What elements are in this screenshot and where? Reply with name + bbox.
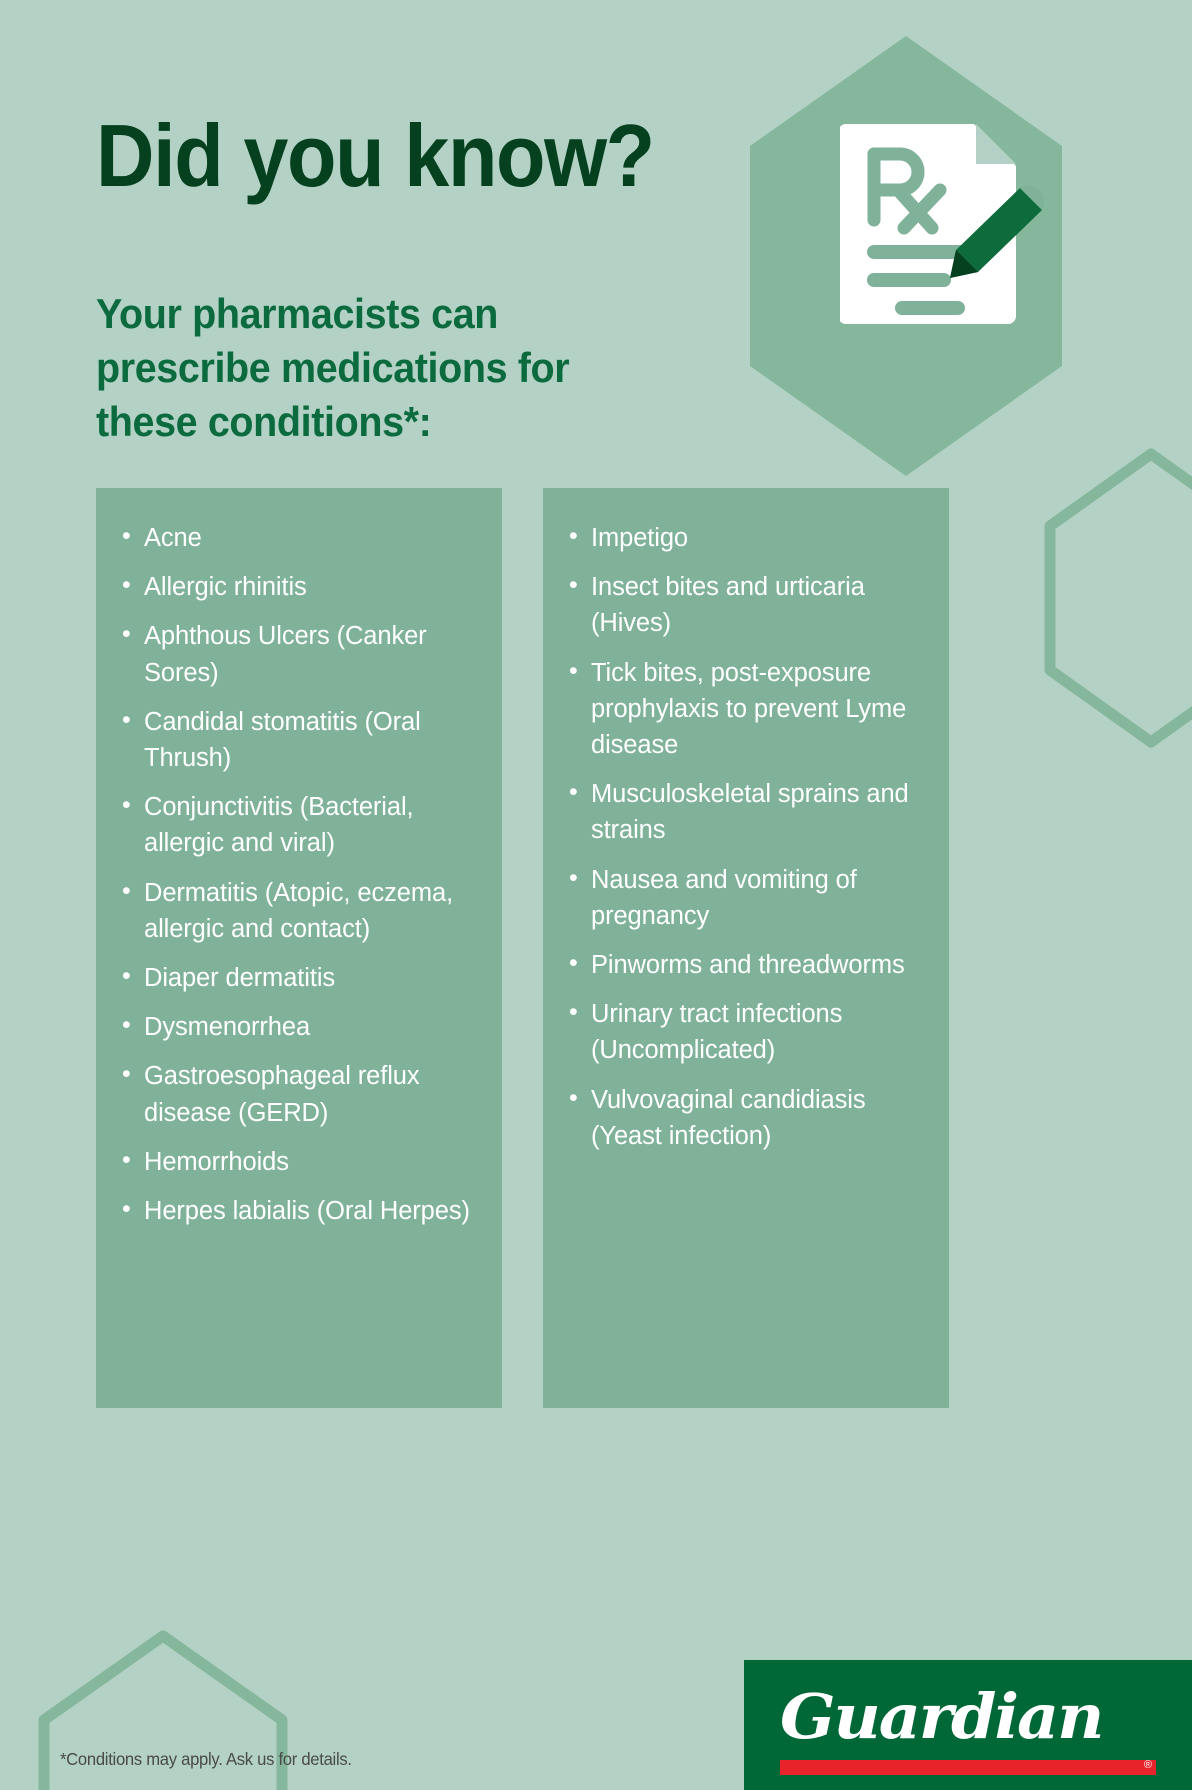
page-headline: Did you know? bbox=[96, 112, 654, 200]
condition-list-item: Aphthous Ulcers (Canker Sores) bbox=[112, 618, 486, 690]
hexagon-outline-right-edge bbox=[1044, 448, 1192, 748]
guardian-wordmark: Guardian bbox=[780, 1686, 1102, 1748]
guardian-logo: Guardian ® bbox=[744, 1660, 1192, 1790]
condition-list-item: Herpes labialis (Oral Herpes) bbox=[112, 1193, 486, 1229]
conditions-list-right: ImpetigoInsect bites and urticaria (Hive… bbox=[559, 520, 933, 1154]
condition-list-item: Diaper dermatitis bbox=[112, 960, 486, 996]
condition-list-item: Allergic rhinitis bbox=[112, 569, 486, 605]
condition-list-item: Impetigo bbox=[559, 520, 933, 556]
condition-list-item: Pinworms and threadworms bbox=[559, 947, 933, 983]
page-subheadline: Your pharmacists can prescribe medicatio… bbox=[96, 287, 622, 448]
condition-list-item: Dermatitis (Atopic, eczema, allergic and… bbox=[112, 875, 486, 947]
condition-list-item: Vulvovaginal candidiasis (Yeast infectio… bbox=[559, 1082, 933, 1154]
conditions-panel-right: ImpetigoInsect bites and urticaria (Hive… bbox=[543, 488, 949, 1408]
conditions-panel-left: AcneAllergic rhinitisAphthous Ulcers (Ca… bbox=[96, 488, 502, 1408]
registered-trademark-mark: ® bbox=[1144, 1759, 1152, 1771]
condition-list-item: Conjunctivitis (Bacterial, allergic and … bbox=[112, 789, 486, 861]
condition-list-item: Musculoskeletal sprains and strains bbox=[559, 776, 933, 848]
condition-list-item: Candidal stomatitis (Oral Thrush) bbox=[112, 704, 486, 776]
rx-prescription-document-with-pencil-icon bbox=[840, 110, 1055, 340]
poster-canvas: Did you know? Your pharmacists can presc… bbox=[0, 0, 1192, 1790]
condition-list-item: Dysmenorrhea bbox=[112, 1009, 486, 1045]
condition-list-item: Acne bbox=[112, 520, 486, 556]
condition-list-item: Gastroesophageal reflux disease (GERD) bbox=[112, 1058, 486, 1130]
condition-list-item: Tick bites, post-exposure prophylaxis to… bbox=[559, 655, 933, 764]
conditions-list-left: AcneAllergic rhinitisAphthous Ulcers (Ca… bbox=[112, 520, 486, 1229]
condition-list-item: Insect bites and urticaria (Hives) bbox=[559, 569, 933, 641]
guardian-logo-red-bar bbox=[780, 1760, 1156, 1775]
condition-list-item: Hemorrhoids bbox=[112, 1144, 486, 1180]
footnote-disclaimer: *Conditions may apply. Ask us for detail… bbox=[60, 1748, 352, 1771]
condition-list-item: Nausea and vomiting of pregnancy bbox=[559, 862, 933, 934]
condition-list-item: Urinary tract infections (Uncomplicated) bbox=[559, 996, 933, 1068]
